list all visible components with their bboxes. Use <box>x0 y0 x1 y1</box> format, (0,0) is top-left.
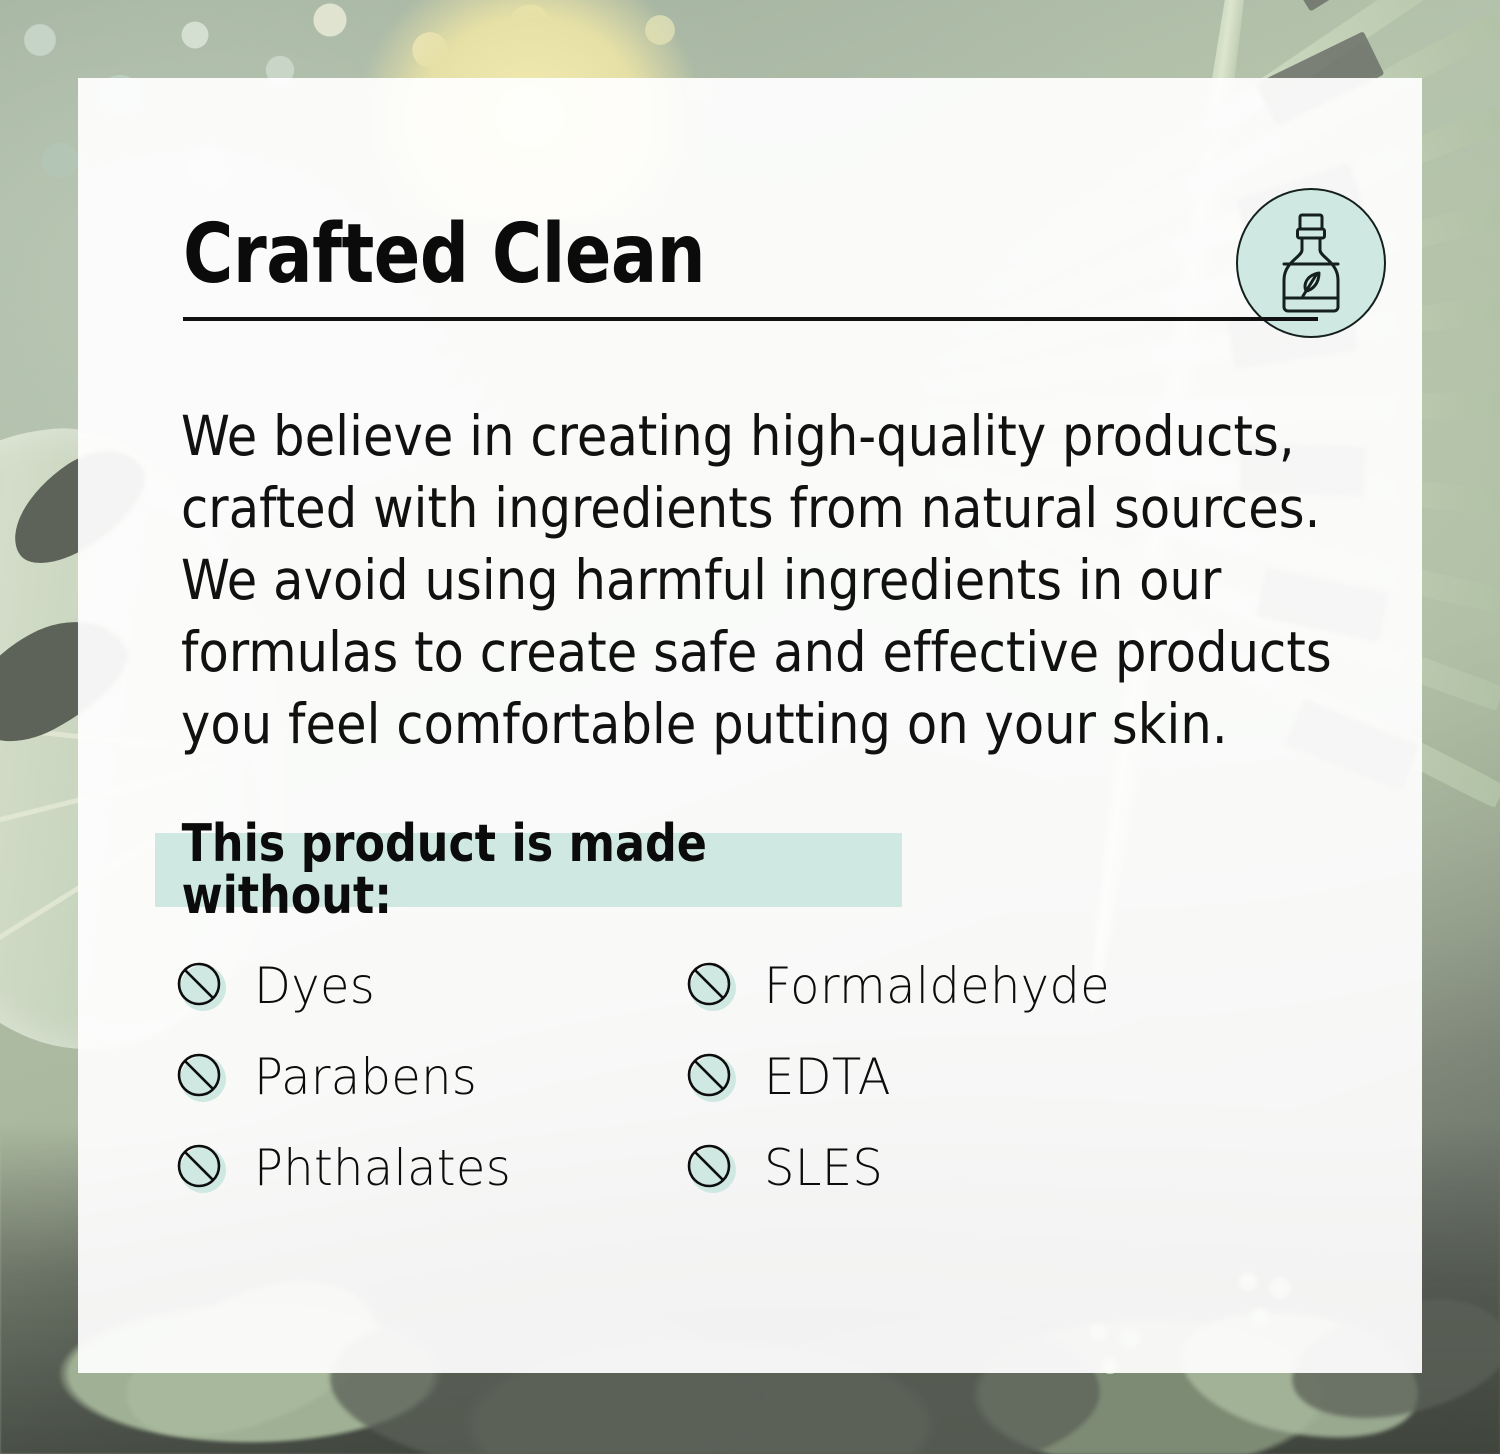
subhead-text: This product is made without: <box>155 818 865 922</box>
bottle-with-leaf-icon <box>1236 188 1386 338</box>
prohibition-icon <box>176 961 226 1011</box>
list-item-label: Dyes <box>254 961 375 1011</box>
prohibition-icon <box>176 1143 226 1193</box>
title-divider <box>183 317 1318 321</box>
list-item: EDTA <box>686 1031 1296 1122</box>
list-item-label: Parabens <box>254 1052 477 1102</box>
prohibition-icon <box>176 1052 226 1102</box>
list-item-label: EDTA <box>764 1052 891 1102</box>
prohibition-icon <box>686 1052 736 1102</box>
list-item-label: Formaldehyde <box>764 961 1110 1011</box>
promo-graphic: Crafted Clean <box>0 0 1500 1454</box>
title-row: Crafted Clean <box>183 188 1396 358</box>
list-item: Formaldehyde <box>686 940 1296 1031</box>
list-item: SLES <box>686 1122 1296 1213</box>
without-list: Dyes Formaldehyde <box>176 940 1296 1213</box>
prohibition-icon <box>686 1143 736 1193</box>
subhead-highlight: This product is made without: <box>155 833 902 907</box>
list-item: Phthalates <box>176 1122 686 1213</box>
list-item: Dyes <box>176 940 686 1031</box>
list-item: Parabens <box>176 1031 686 1122</box>
bottle-with-leaf-glyph <box>1267 211 1355 315</box>
list-item-label: SLES <box>764 1143 883 1193</box>
list-item-label: Phthalates <box>254 1143 511 1193</box>
content-card: Crafted Clean <box>78 78 1422 1373</box>
prohibition-icon <box>686 961 736 1011</box>
page-title: Crafted Clean <box>183 214 705 296</box>
body-copy: We believe in creating high-quality prod… <box>181 400 1341 760</box>
